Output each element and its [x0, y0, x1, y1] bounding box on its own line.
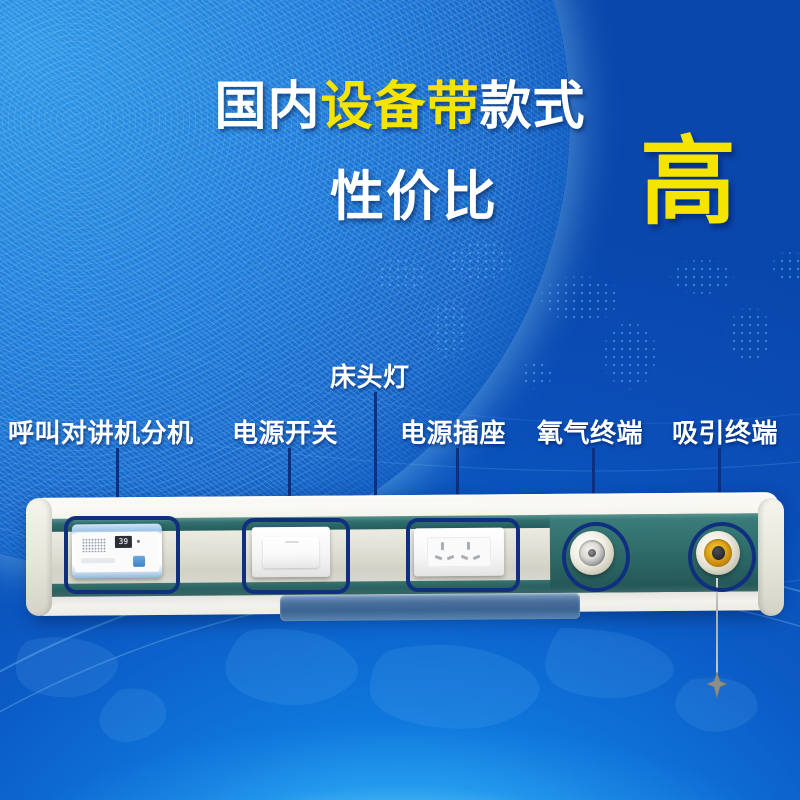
headline-block: 国内设备带款式 性价比 高 — [0, 80, 800, 240]
highlight-ring-power-socket — [406, 518, 520, 592]
bed-light-diffuser — [280, 593, 580, 621]
panel-end-cap-right — [758, 498, 784, 616]
callout-label-bed-light: 床头灯 — [330, 357, 410, 394]
headline-part-1: 国内 — [214, 77, 320, 137]
headline-part-3: 款式 — [480, 77, 586, 137]
callout-label-power-socket: 电源插座 — [400, 413, 506, 450]
promo-image: 国内设备带款式 性价比 高 呼叫对讲机分机 电源开关 床头灯 电源插座 氧气终端… — [0, 0, 800, 800]
headline-part-2: 设备带 — [320, 77, 479, 137]
headline-line-2: 性价比 高 — [0, 148, 800, 240]
callout-label-suction-terminal: 吸引终端 — [672, 413, 778, 450]
highlight-ring-suction-terminal — [688, 522, 756, 592]
headline-subtext: 性价比 — [330, 152, 498, 231]
panel-end-cap-left — [26, 498, 52, 616]
world-map-dot-pattern — [330, 225, 800, 440]
callout-label-oxygen-terminal: 氧气终端 — [537, 413, 643, 450]
headline-big-word: 高 — [640, 134, 736, 230]
hanging-rod — [716, 578, 718, 678]
highlight-ring-oxygen-terminal — [562, 522, 630, 592]
highlight-ring-intercom — [64, 516, 180, 594]
highlight-ring-power-switch — [242, 518, 350, 594]
callout-label-intercom: 呼叫对讲机分机 — [8, 413, 194, 450]
cross-hook-icon — [707, 672, 727, 698]
callout-label-power-switch: 电源开关 — [232, 413, 338, 450]
